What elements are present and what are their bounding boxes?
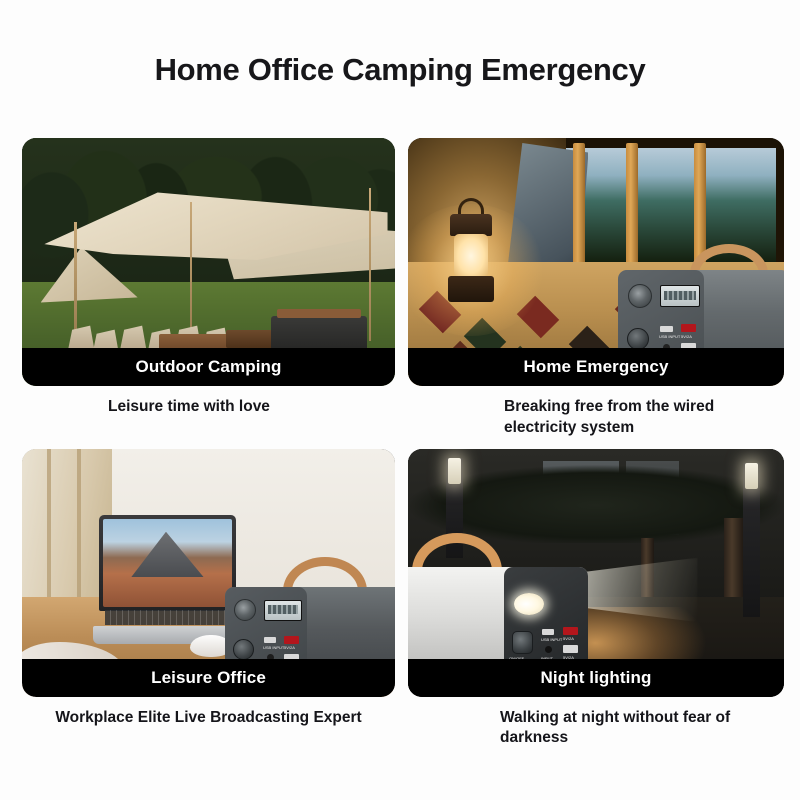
caption-bar-leisure-office: Leisure Office: [22, 659, 395, 697]
oil-lantern: [442, 198, 500, 314]
caption-label: Outdoor Camping: [136, 357, 282, 377]
subcaption-home-emergency: Breaking free from the wired electricity…: [408, 397, 784, 439]
device-usb-output-red-port[interactable]: [284, 636, 299, 644]
device-usb-output-red-port[interactable]: [563, 627, 578, 635]
caption-label: Leisure Office: [151, 668, 266, 688]
device-led-flashlight: [514, 593, 544, 615]
panel-photo-leisure-office: ON/OFF USB INPUT INPUT 5V/2A 5V/2A Leisu…: [22, 449, 395, 697]
device-usb-output-red-label: 5V/2A: [563, 636, 574, 641]
panel-photo-outdoor-camping: Outdoor Camping: [22, 138, 395, 386]
laptop-keyboard: [105, 610, 230, 625]
device-usb-input-port[interactable]: [264, 637, 276, 643]
bollard-light: [743, 463, 760, 617]
wallpaper-mountain: [131, 532, 203, 577]
device-usb-output-port[interactable]: [563, 645, 578, 653]
device-power-button[interactable]: [627, 328, 649, 350]
laptop: [93, 515, 242, 644]
lantern-hood: [450, 214, 492, 236]
caption-bar-home-emergency: Home Emergency: [408, 348, 784, 386]
device-usb-output-red-port[interactable]: [681, 324, 696, 332]
device-power-button[interactable]: [233, 639, 254, 660]
panel-night-lighting[interactable]: ON/OFF USB INPUT INPUT 5V/2A 5V/2A Night…: [408, 449, 784, 750]
subcaption-leisure-office: Workplace Elite Live Broadcasting Expert: [22, 708, 395, 729]
caption-label: Home Emergency: [523, 357, 668, 377]
device-display: [660, 285, 700, 307]
camp-furniture-group: [67, 277, 373, 356]
caption-bar-outdoor-camping: Outdoor Camping: [22, 348, 395, 386]
caption-label: Night lighting: [541, 668, 652, 688]
lantern-fuel-base: [448, 276, 494, 302]
window-mullion: [47, 449, 51, 613]
device-fan-vent: [628, 284, 652, 308]
panel-outdoor-camping[interactable]: Outdoor Camping Leisure time with love: [22, 138, 395, 439]
device-display: [264, 600, 302, 621]
device-usb-input-label: USB INPUT: [659, 334, 680, 339]
caption-bar-night-lighting: Night lighting: [408, 659, 784, 697]
panel-leisure-office[interactable]: ON/OFF USB INPUT INPUT 5V/2A 5V/2A Leisu…: [22, 449, 395, 750]
lantern-globe: [454, 234, 488, 278]
subcaption-outdoor-camping: Leisure time with love: [22, 397, 395, 418]
device-usb-input-label: USB INPUT: [263, 645, 284, 650]
panel-photo-home-emergency: ON/OFF USB INPUT INPUT 5V/2A 5V/2A Home …: [408, 138, 784, 386]
laptop-wallpaper: [103, 519, 232, 606]
device-usb-input-port[interactable]: [660, 326, 673, 332]
device-fan-vent: [234, 599, 256, 621]
device-usb-output-red-label: 5V/2A: [284, 645, 295, 650]
panel-photo-night-lighting: ON/OFF USB INPUT INPUT 5V/2A 5V/2A Night…: [408, 449, 784, 697]
device-power-button[interactable]: [512, 631, 533, 654]
device-usb-input-port[interactable]: [542, 629, 554, 635]
panel-home-emergency[interactable]: ON/OFF USB INPUT INPUT 5V/2A 5V/2A Home …: [408, 138, 784, 439]
window-mullion: [77, 449, 81, 613]
device-usb-output-red-label: 5V/2A: [681, 334, 692, 339]
laptop-screen: [99, 515, 236, 610]
panel-grid: Outdoor Camping Leisure time with love: [22, 138, 784, 749]
subcaption-night-lighting: Walking at night without fear of darknes…: [408, 708, 784, 750]
device-usb-input-label: USB INPUT: [541, 637, 562, 642]
device-dc-input-port[interactable]: [545, 646, 552, 653]
page-title: Home Office Camping Emergency: [0, 52, 800, 88]
